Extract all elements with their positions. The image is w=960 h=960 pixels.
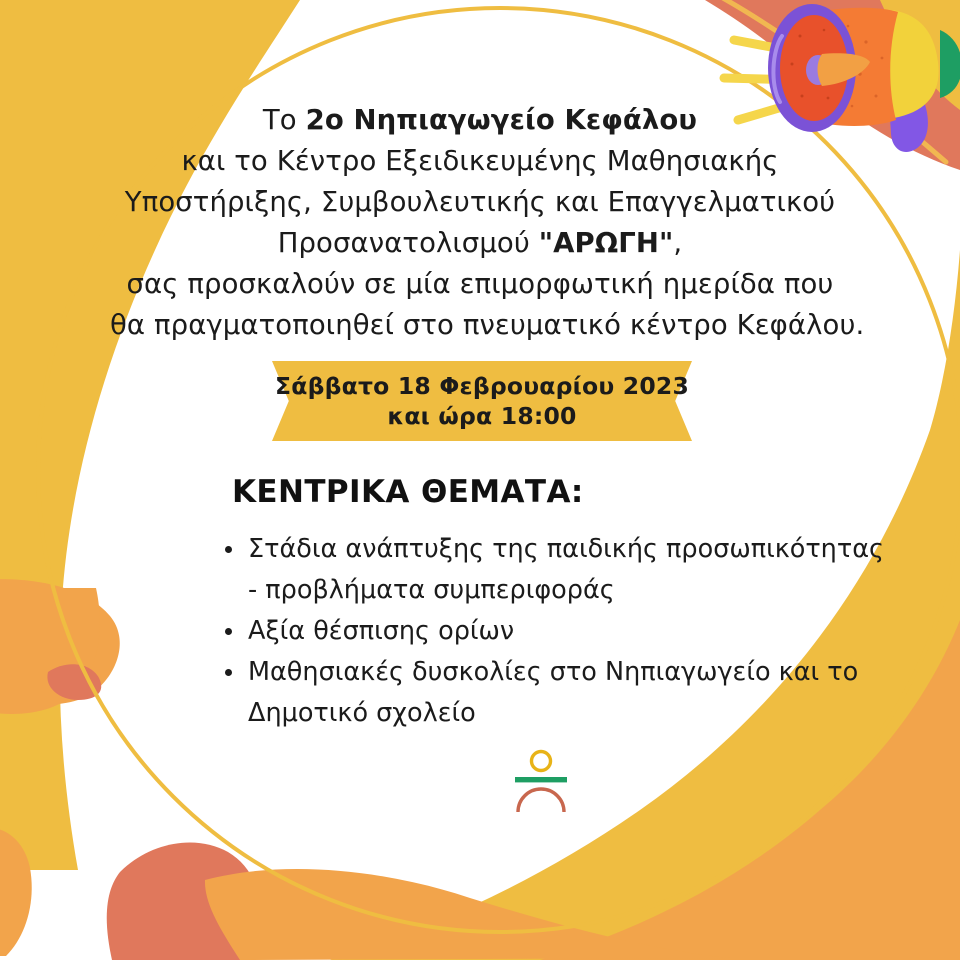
topic-line-secondary: - προβλήματα συμπεριφοράς [248,570,902,611]
headline-line-5: σας προσκαλούν σε μία επιμορφωτική ημερί… [110,264,850,305]
logo-bar [515,777,567,782]
bullet-icon [225,628,232,635]
date-ribbon-text: Σάββατο 18 Φεβρουαρίου 2023 και ώρα 18:0… [272,361,692,441]
topic-line-primary: Μαθησιακές δυσκολίες στο Νηπιαγωγείο και… [248,652,902,693]
ribbon-time-line: και ώρα 18:00 [387,401,576,431]
headline-line-4: Προσανατολισμού "ΑΡΩΓΗ", [110,223,850,264]
abstract-person-logo-icon [505,748,577,818]
topic-line-secondary: Δημοτικό σχολείο [248,693,902,734]
list-item: Αξία θέσπισης ορίων [222,611,902,652]
logo-arc-body [518,789,564,812]
headline-block: Το 2ο Νηπιαγωγείο Κεφάλου και το Κέντρο … [110,100,850,346]
list-item: Στάδια ανάπτυξης της παιδικής προσωπικότ… [222,529,902,611]
topic-line-primary: Αξία θέσπισης ορίων [248,611,902,652]
list-item: Μαθησιακές δυσκολίες στο Νηπιαγωγείο και… [222,652,902,734]
headline-line-2: και το Κέντρο Εξειδικευμένης Μαθησιακής [110,141,850,182]
poster-content: Το 2ο Νηπιαγωγείο Κεφάλου και το Κέντρο … [0,0,960,960]
topics-list: Στάδια ανάπτυξης της παιδικής προσωπικότ… [222,529,902,734]
date-ribbon: Σάββατο 18 Φεβρουαρίου 2023 και ώρα 18:0… [272,361,692,441]
topics-heading: ΚΕΝΤΡΙΚΑ ΘΕΜΑΤΑ: [232,474,584,510]
headline-line-3: Υποστήριξης, Συμβουλευτικής και Επαγγελμ… [110,182,850,223]
logo-circle-head [532,752,551,771]
bullet-icon [225,546,232,553]
ribbon-date-line: Σάββατο 18 Φεβρουαρίου 2023 [275,371,689,401]
headline-line-1: Το 2ο Νηπιαγωγείο Κεφάλου [110,100,850,141]
topic-line-primary: Στάδια ανάπτυξης της παιδικής προσωπικότ… [248,529,902,570]
bullet-icon [225,669,232,676]
poster: Το 2ο Νηπιαγωγείο Κεφάλου και το Κέντρο … [0,0,960,960]
headline-line-6: θα πραγματοποιηθεί στο πνευματικό κέντρο… [110,305,850,346]
